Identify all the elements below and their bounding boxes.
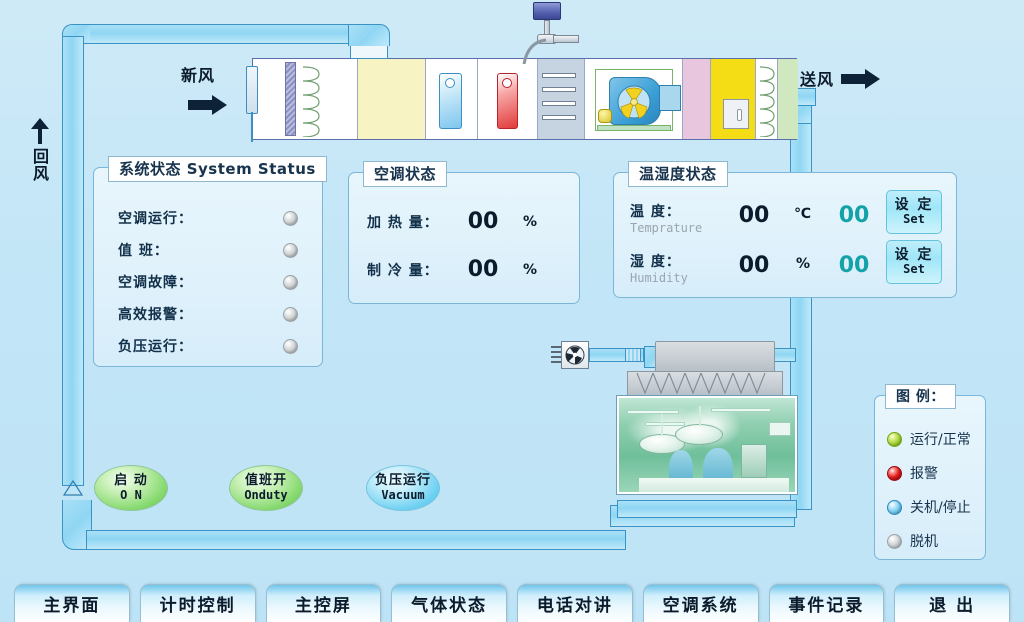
temperature-humidity-panel: 温湿度状态 温 度： Temprature 00 ℃ 00 设 定 Set 湿 … [613, 172, 957, 298]
fresh-air-damper [246, 66, 258, 114]
access-door-handle [737, 109, 742, 121]
ceiling-light-tube-3 [645, 422, 685, 426]
ceiling-light-tube-2 [711, 408, 771, 412]
legend-item-offline: 脱机 [887, 531, 938, 551]
temperature-set-button[interactable]: 设 定 Set [886, 190, 942, 234]
humidity-set-button-cn: 设 定 [895, 248, 934, 263]
nav-button-main-panel[interactable]: 主控屏 [266, 584, 382, 622]
ahu-segment-prefilter [253, 59, 358, 139]
duct-bottom-horizontal [86, 530, 626, 550]
equipment-cart [741, 444, 767, 478]
status-lamp-on-duty[interactable] [283, 243, 298, 258]
ahu-segment-spray [538, 59, 585, 139]
legend-item-running: 运行/正常 [887, 429, 971, 449]
operating-room-photo [617, 396, 797, 494]
nav-button-gas-status[interactable]: 气体状态 [391, 584, 507, 622]
status-lamp-negative-pressure[interactable] [283, 339, 298, 354]
hepa-filter-pleats-icon [633, 373, 777, 395]
duct-or-return-left [617, 500, 797, 518]
temperature-unit: ℃ [794, 206, 811, 222]
access-door [723, 99, 749, 129]
nav-button-event-log[interactable]: 事件记录 [769, 584, 885, 622]
legend-title: 图 例： [885, 384, 956, 409]
surgical-lamp-2 [675, 424, 723, 445]
exhaust-fan-fins [551, 346, 561, 364]
bottom-navigation-bar: 主界面 计时控制 主控屏 气体状态 电话对讲 空调系统 事件记录 退 出 [0, 578, 1024, 622]
fan-motor [598, 109, 612, 123]
status-row: 高效报警： [94, 304, 322, 324]
humidity-setpoint: 00 [832, 253, 876, 278]
prefilter-media [285, 62, 296, 136]
status-label: 负压运行： [118, 336, 193, 356]
nav-button-timer-control[interactable]: 计时控制 [140, 584, 256, 622]
supply-air-arrow-icon [841, 68, 881, 90]
status-label: 值 班： [118, 240, 169, 260]
humidity-sublabel: Humidity [630, 271, 730, 285]
legend-lamp-green [887, 432, 902, 447]
supply-plenum-box [655, 341, 775, 373]
nav-button-main-screen[interactable]: 主界面 [14, 584, 130, 622]
system-status-panel: 系统状态 System Status 空调运行： 值 班： 空调故障： 高效报警… [93, 167, 323, 367]
supply-air-label: 送风 [800, 66, 834, 90]
status-row: 负压运行： [94, 336, 322, 356]
ahu-segment-fan [585, 59, 683, 139]
status-row: 空调故障： [94, 272, 322, 292]
wall-panel [769, 422, 791, 436]
hvac-mimic-canvas: 回风 [0, 0, 1024, 622]
legend-panel: 图 例： 运行/正常 报警 关机/停止 脱机 [874, 395, 986, 560]
heating-output-unit: % [523, 214, 537, 230]
fresh-air-arrow-icon [188, 94, 228, 116]
patient-drape [639, 478, 789, 494]
ac-status-panel: 空调状态 加 热 量： 00 % 制 冷 量： 00 % [348, 172, 580, 304]
return-air-label: 回风 [29, 148, 47, 182]
nav-button-exit[interactable]: 退 出 [894, 584, 1010, 622]
start-button[interactable]: 启 动 O N [94, 465, 168, 511]
damper-symbol-left [62, 478, 84, 498]
status-label: 空调运行： [118, 208, 193, 228]
temperature-set-button-cn: 设 定 [895, 198, 934, 213]
air-handling-unit [252, 58, 797, 140]
status-lamp-ac-running[interactable] [283, 211, 298, 226]
fresh-air-damper-stem [251, 112, 253, 142]
ahu-segment-heating [478, 59, 538, 139]
ceiling-light-tube-1 [627, 410, 679, 414]
onduty-button-en: Onduty [244, 489, 287, 502]
status-label: 空调故障： [118, 272, 193, 292]
ahu-segment-medium-filter [683, 59, 711, 139]
legend-item-alarm: 报警 [887, 463, 938, 483]
system-status-title: 系统状态 System Status [108, 156, 327, 182]
recovery-coil-icon [758, 63, 776, 137]
humidity-label: 湿 度： [630, 251, 730, 271]
lamp-arm-1 [661, 414, 663, 436]
ahu-segment-outlet [778, 59, 798, 139]
ahu-segment-cooling [426, 59, 478, 139]
nav-button-intercom[interactable]: 电话对讲 [517, 584, 633, 622]
vacuum-button[interactable]: 负压运行 Vacuum [366, 465, 440, 511]
start-button-en: O N [120, 489, 142, 502]
cooling-output-value: 00 [457, 257, 509, 282]
cooling-output-label: 制 冷 量： [367, 260, 457, 280]
exhaust-fan-icon [565, 345, 585, 365]
start-button-cn: 启 动 [114, 474, 148, 488]
heating-output-value: 00 [457, 209, 509, 234]
ac-status-title: 空调状态 [363, 161, 447, 187]
fan-impeller-icon [617, 85, 651, 119]
legend-label: 关机/停止 [910, 497, 971, 517]
legend-label: 运行/正常 [910, 429, 971, 449]
temperature-label: 温 度： [630, 201, 730, 221]
spray-header-4 [542, 115, 576, 120]
onduty-button[interactable]: 值班开 Onduty [229, 465, 303, 511]
humidity-value: 00 [732, 253, 776, 278]
legend-lamp-red [887, 466, 902, 481]
valve-downpipe [518, 34, 548, 64]
return-air-arrow-icon [30, 118, 50, 144]
vacuum-button-en: Vacuum [381, 489, 424, 502]
valve-outlet-pipe [553, 35, 579, 43]
duct-flex-joint [625, 348, 641, 362]
status-lamp-ac-fault[interactable] [283, 275, 298, 290]
spray-header-2 [542, 87, 576, 92]
humidity-set-button[interactable]: 设 定 Set [886, 240, 942, 284]
heating-gauge-knob [502, 78, 512, 88]
spray-header-3 [542, 101, 576, 106]
cooling-gauge-knob [445, 78, 455, 88]
duct-left-riser [62, 36, 84, 486]
cooling-output-unit: % [523, 262, 537, 278]
legend-label: 报警 [910, 463, 938, 483]
valve-actuator [533, 2, 561, 20]
temperature-set-button-en: Set [903, 213, 925, 226]
vacuum-button-cn: 负压运行 [375, 474, 431, 488]
fan-outlet [659, 85, 681, 111]
legend-label: 脱机 [910, 531, 938, 551]
ahu-segment-recovery-coil [756, 59, 778, 139]
onduty-button-cn: 值班开 [245, 474, 287, 488]
status-row: 值 班： [94, 240, 322, 260]
ahu-segment-humidifier [358, 59, 426, 139]
status-label: 高效报警： [118, 304, 193, 324]
legend-lamp-blue [887, 500, 902, 515]
temperature-humidity-title: 温湿度状态 [628, 161, 728, 187]
duct-top-horizontal [86, 24, 362, 44]
spray-header-1 [542, 73, 576, 78]
temperature-sublabel: Temprature [630, 221, 730, 235]
humidity-set-button-en: Set [903, 263, 925, 276]
fresh-air-label: 新风 [181, 62, 215, 86]
heating-output-label: 加 热 量： [367, 212, 457, 232]
temperature-setpoint: 00 [832, 203, 876, 228]
status-lamp-hepa-alarm[interactable] [283, 307, 298, 322]
ahu-segment-high-efficiency-filter [711, 59, 756, 139]
humidity-unit: % [796, 256, 810, 272]
heating-coil-icon [301, 63, 323, 137]
legend-lamp-gray [887, 534, 902, 549]
lamp-arm-2 [699, 406, 701, 426]
duct-elbow-to-ahu [348, 24, 390, 46]
legend-item-stopped: 关机/停止 [887, 497, 971, 517]
status-row: 空调运行： [94, 208, 322, 228]
temperature-value: 00 [732, 203, 776, 228]
fan-base [597, 125, 671, 131]
nav-button-hvac-system[interactable]: 空调系统 [643, 584, 759, 622]
